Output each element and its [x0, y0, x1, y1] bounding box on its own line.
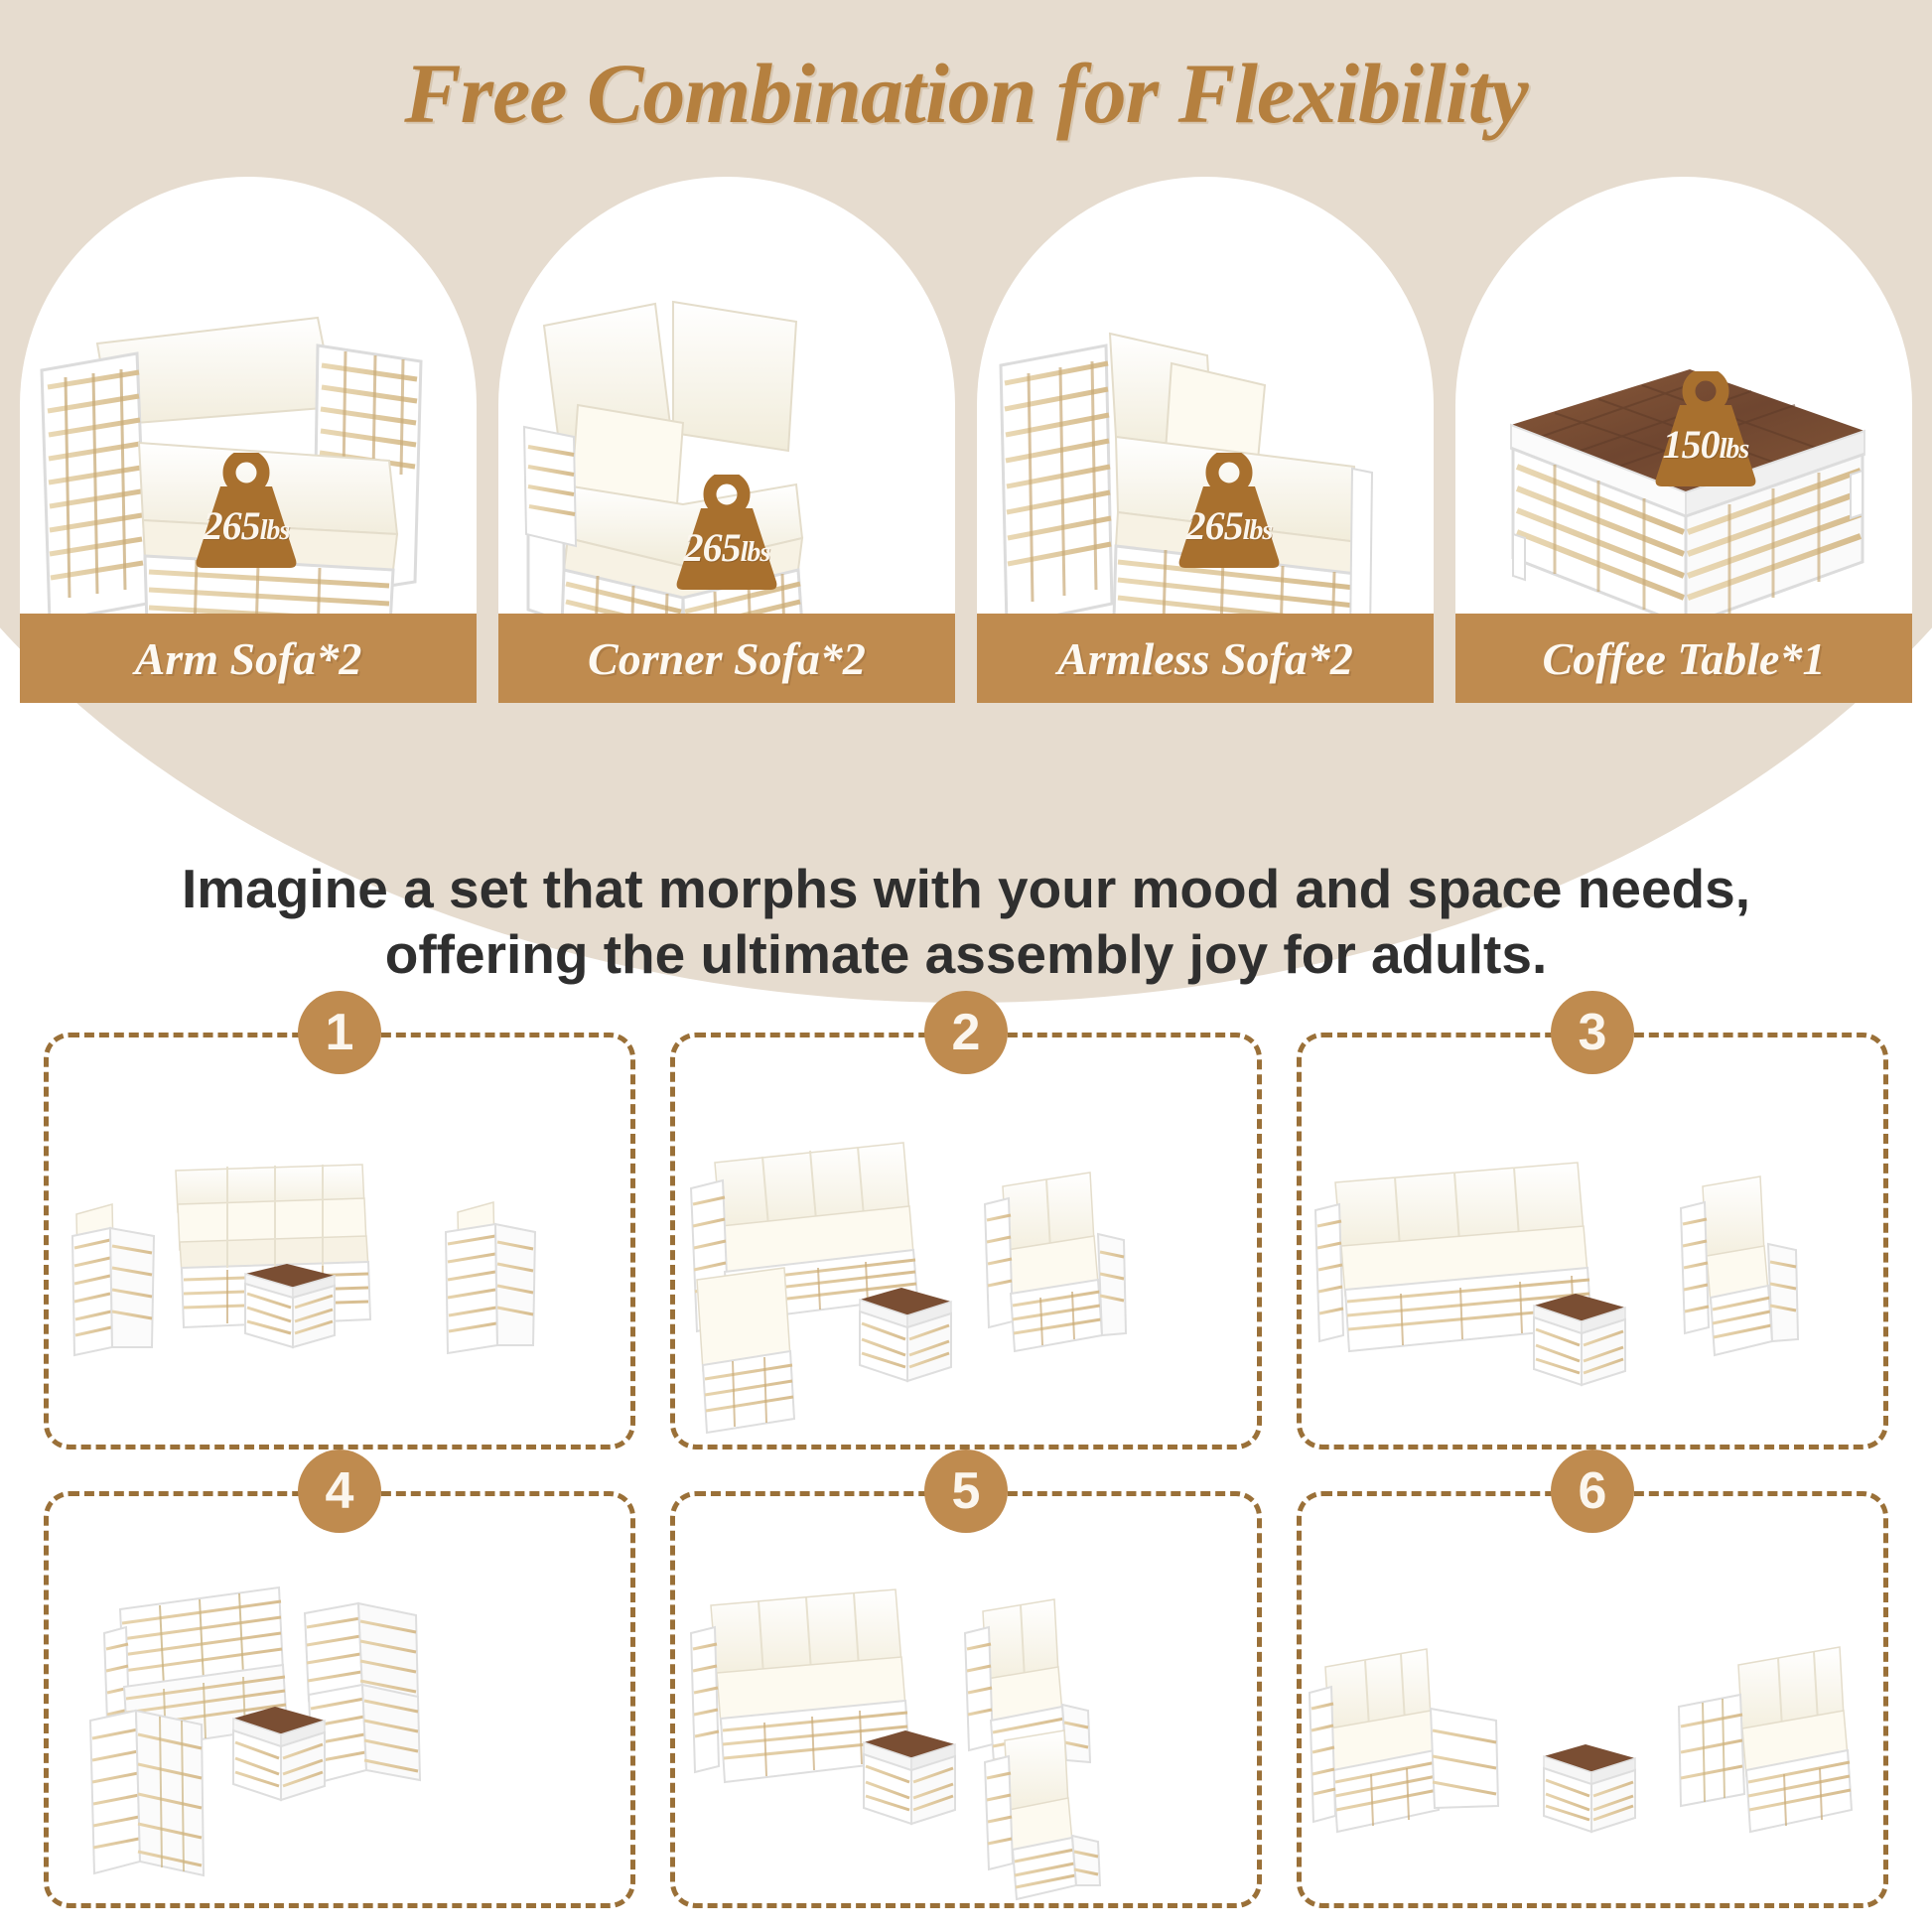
combination-box-1[interactable]: 1 [44, 1033, 635, 1449]
combination-row-top: 1 [44, 1033, 1888, 1459]
combination-number: 2 [924, 991, 1008, 1074]
combination-number: 6 [1551, 1449, 1634, 1533]
combination-number: 1 [298, 991, 381, 1074]
product-card-armless-sofa[interactable]: 265lbs Armless Sofa*2 [977, 177, 1434, 782]
combination-row-bottom: 4 [44, 1491, 1888, 1918]
product-card-coffee-table[interactable]: 150lbs Coffee Table*1 [1455, 177, 1912, 782]
tagline: Imagine a set that morphs with your mood… [0, 856, 1932, 987]
weight-badge: 265lbs [181, 453, 312, 568]
product-label: Armless Sofa*2 [977, 614, 1434, 703]
weight-label: 150lbs [1640, 421, 1771, 468]
product-label: Coffee Table*1 [1455, 614, 1912, 703]
combination-box-2[interactable]: 2 [670, 1033, 1262, 1449]
weight-label: 265lbs [1164, 502, 1295, 549]
combination-box-4[interactable]: 4 [44, 1491, 635, 1908]
product-cards-row: 265lbs Arm Sofa*2 [20, 177, 1912, 782]
combination-illustration-1 [49, 1037, 630, 1445]
combination-number: 4 [298, 1449, 381, 1533]
weight-badge: 150lbs [1640, 371, 1771, 486]
weight-badge: 265lbs [1164, 453, 1295, 568]
product-card-arm-sofa[interactable]: 265lbs Arm Sofa*2 [20, 177, 477, 782]
tagline-line-2: offering the ultimate assembly joy for a… [0, 921, 1932, 987]
product-label: Corner Sofa*2 [498, 614, 955, 703]
tagline-line-1: Imagine a set that morphs with your mood… [0, 856, 1932, 921]
combination-illustration-4 [49, 1496, 630, 1903]
combination-box-3[interactable]: 3 [1297, 1033, 1888, 1449]
product-card-corner-sofa[interactable]: 265lbs Corner Sofa*2 [498, 177, 955, 782]
combination-number: 5 [924, 1449, 1008, 1533]
weight-label: 265lbs [661, 524, 792, 571]
combination-illustration-5 [675, 1496, 1257, 1903]
page-title: Free Combination for Flexibility [0, 44, 1932, 143]
combination-number: 3 [1551, 991, 1634, 1074]
weight-badge: 265lbs [661, 475, 792, 590]
combination-grid: 1 [0, 1033, 1932, 1932]
weight-label: 265lbs [181, 502, 312, 549]
combination-box-6[interactable]: 6 [1297, 1491, 1888, 1908]
combination-illustration-2 [675, 1037, 1257, 1445]
combination-illustration-3 [1302, 1037, 1883, 1445]
product-label: Arm Sofa*2 [20, 614, 477, 703]
combination-box-5[interactable]: 5 [670, 1491, 1262, 1908]
combination-illustration-6 [1302, 1496, 1883, 1903]
